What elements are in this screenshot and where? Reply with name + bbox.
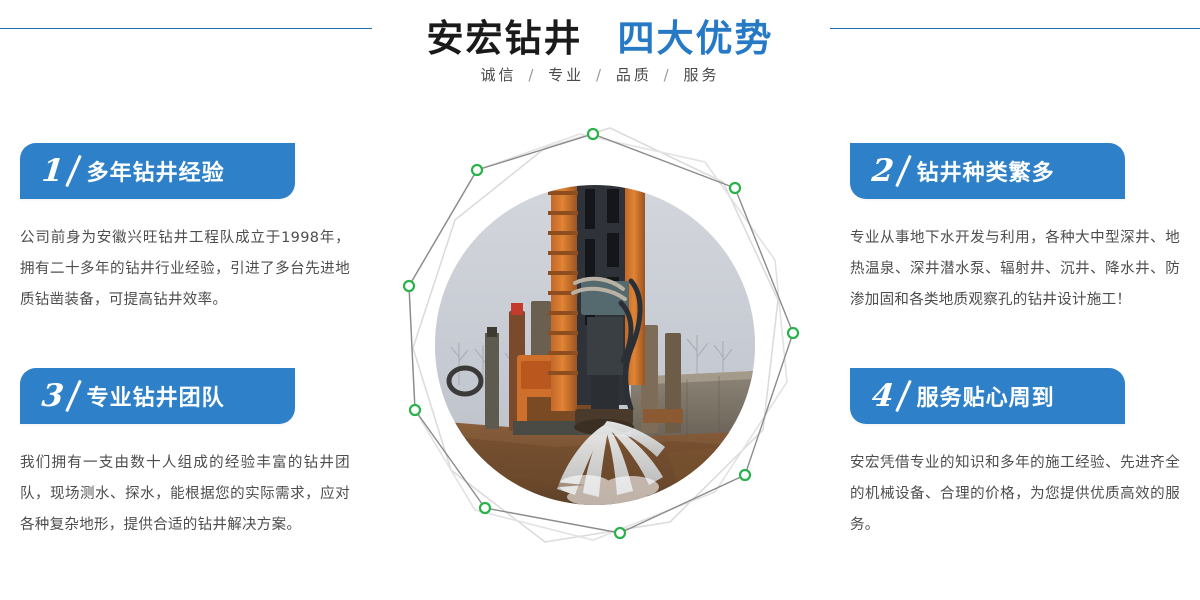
slash-icon bbox=[65, 380, 82, 412]
vertex-marker-icon bbox=[472, 165, 482, 175]
feature-body-3: 我们拥有一支由数十人组成的经验丰富的钻井团队，现场测水、探水，能根据您的实际需求… bbox=[20, 448, 350, 541]
subtitle-separator-1: / bbox=[592, 66, 608, 84]
title-highlight: 四大优势 bbox=[617, 17, 773, 60]
feature-body-1: 公司前身为安徽兴旺钻井工程队成立于1998年，拥有二十多年的钻井行业经验，引进了… bbox=[20, 223, 350, 316]
feature-number-2: 2 bbox=[870, 156, 895, 187]
feature-badge-4: 4 服务贴心周到 bbox=[850, 368, 1125, 424]
subtitle-item-3: 服务 bbox=[683, 66, 719, 84]
feature-card-3[interactable]: 3 专业钻井团队 我们拥有一支由数十人组成的经验丰富的钻井团队，现场测水、探水，… bbox=[20, 368, 365, 541]
slash-icon bbox=[65, 155, 82, 187]
subtitle-separator-0: / bbox=[524, 66, 540, 84]
feature-badge-2: 2 钻井种类繁多 bbox=[850, 143, 1125, 199]
vertex-marker-icon bbox=[588, 129, 598, 139]
slash-icon bbox=[895, 380, 912, 412]
vertex-marker-icon bbox=[410, 405, 420, 415]
feature-badge-3: 3 专业钻井团队 bbox=[20, 368, 295, 424]
subtitle-item-2: 品质 bbox=[616, 66, 652, 84]
title-company: 安宏钻井 bbox=[427, 17, 583, 60]
feature-number-3: 3 bbox=[40, 381, 65, 412]
feature-title-4: 服务贴心周到 bbox=[917, 380, 1055, 412]
feature-card-2[interactable]: 2 钻井种类繁多 专业从事地下水开发与利用，各种大中型深井、地热温泉、深井潜水泵… bbox=[850, 143, 1195, 316]
vertex-marker-icon bbox=[788, 328, 798, 338]
subtitle-item-0: 诚信 bbox=[481, 66, 517, 84]
feature-title-3: 专业钻井团队 bbox=[87, 380, 225, 412]
page-title: 安宏钻井 四大优势 bbox=[0, 8, 1200, 62]
feature-title-2: 钻井种类繁多 bbox=[917, 155, 1055, 187]
banner-header: 安宏钻井 四大优势 诚信 / 专业 / 品质 / 服务 bbox=[0, 0, 1200, 110]
vertex-marker-icon bbox=[404, 281, 414, 291]
slash-icon bbox=[895, 155, 912, 187]
drilling-rig-photo bbox=[435, 185, 755, 505]
feature-body-4: 安宏凭借专业的知识和多年的施工经验、先进齐全的机械设备、合理的价格，为您提供优质… bbox=[850, 448, 1180, 541]
center-graphic bbox=[395, 110, 805, 590]
feature-badge-1: 1 多年钻井经验 bbox=[20, 143, 295, 199]
subtitle-item-1: 专业 bbox=[548, 66, 584, 84]
subtitle-keywords: 诚信 / 专业 / 品质 / 服务 bbox=[0, 64, 1200, 85]
feature-body-2: 专业从事地下水开发与利用，各种大中型深井、地热温泉、深井潜水泵、辐射井、沉井、降… bbox=[850, 223, 1180, 316]
drilling-rig-illustration bbox=[435, 185, 755, 505]
feature-title-1: 多年钻井经验 bbox=[87, 155, 225, 187]
feature-number-1: 1 bbox=[40, 156, 65, 187]
feature-card-4[interactable]: 4 服务贴心周到 安宏凭借专业的知识和多年的施工经验、先进齐全的机械设备、合理的… bbox=[850, 368, 1195, 541]
feature-number-4: 4 bbox=[870, 381, 895, 412]
feature-card-1[interactable]: 1 多年钻井经验 公司前身为安徽兴旺钻井工程队成立于1998年，拥有二十多年的钻… bbox=[20, 143, 365, 316]
promo-banner: 安宏钻井 四大优势 诚信 / 专业 / 品质 / 服务 1 多年钻井经验 公司前… bbox=[0, 0, 1200, 600]
vertex-marker-icon bbox=[615, 528, 625, 538]
subtitle-separator-2: / bbox=[660, 66, 676, 84]
